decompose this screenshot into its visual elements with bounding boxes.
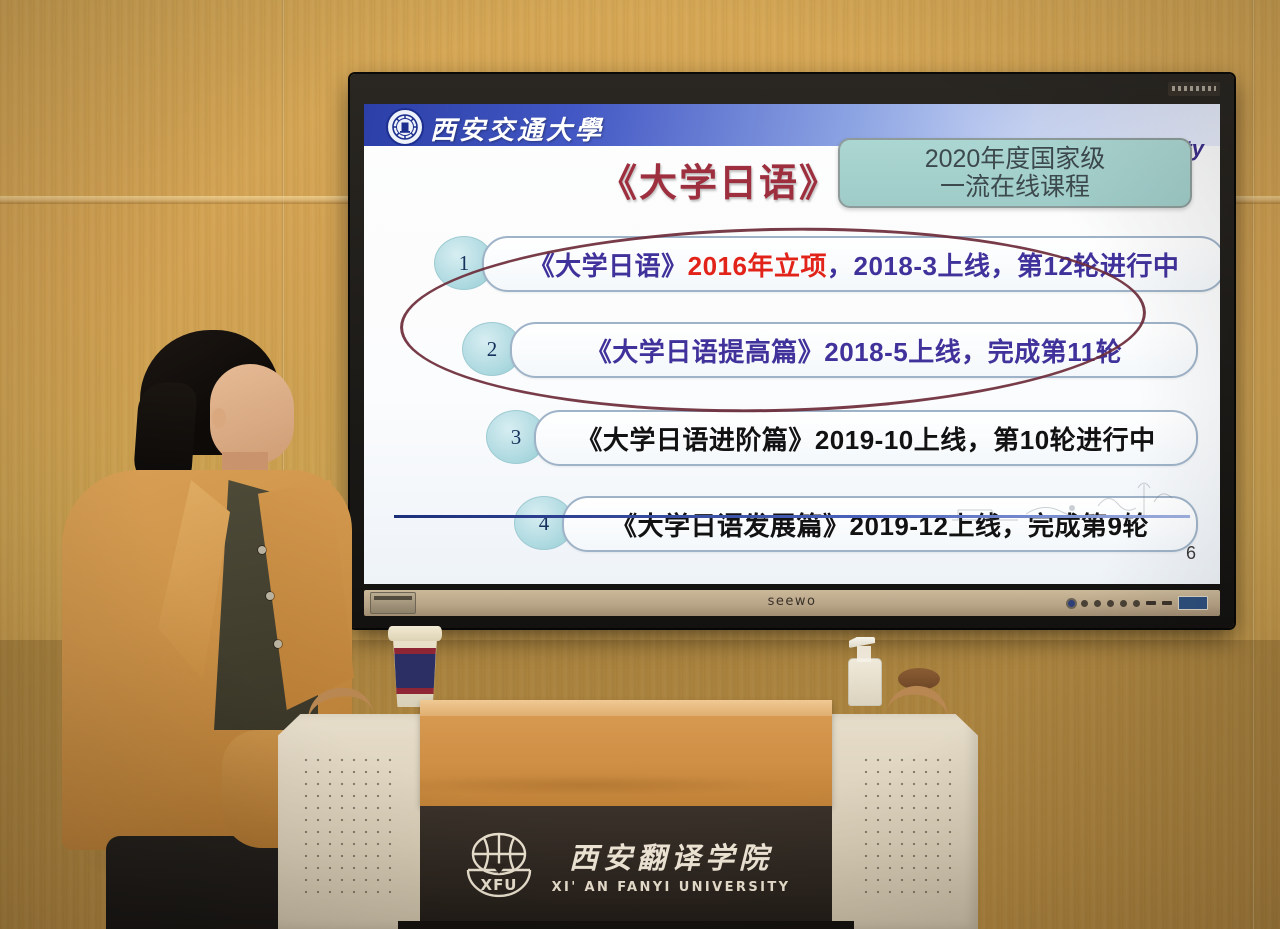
port-icon[interactable] [1094,600,1101,607]
university-name-block: 西安翻译学院 XI' AN FANYI UNIVERSITY [552,835,791,895]
presenter-lower-body [106,836,296,929]
lecture-room-scene: 西安交通大學 Xi'an Jiaotong University 《大学日语》系… [0,0,1280,929]
coffee-cup[interactable] [391,626,439,708]
lectern-wood-top [420,700,832,806]
presenter-button [274,640,282,648]
lectern: XFU 西安翻译学院 XI' AN FANYI UNIVERSITY [278,700,978,929]
presentation-slide: 西安交通大學 Xi'an Jiaotong University 《大学日语》系… [364,104,1220,584]
award-badge-line1: 2020年度国家级 [925,145,1106,173]
lectern-side-panel [278,714,438,929]
bezel-sticker [1178,596,1208,610]
usb-slot-icon[interactable] [1162,601,1172,605]
port-icon[interactable] [1107,600,1114,607]
presenter-button [258,546,266,554]
course-row: 2 《大学日语提高篇》2018-5上线，完成第11轮 [364,308,1220,392]
presenter-button [266,592,274,600]
sanitizer-body [848,658,882,706]
power-button-icon[interactable] [1068,600,1075,607]
xjtu-crest-icon [386,108,424,146]
award-badge: 2020年度国家级 一流在线课程 [838,138,1192,208]
course-pill: 《大学日语》2016年立项，2018-3上线，第12轮进行中 [482,236,1220,292]
xfu-globe-icon: XFU [462,828,536,902]
lectern-base [398,921,854,929]
course-text-segment: 《大学日语》 [529,246,688,283]
display-screen[interactable]: 西安交通大學 Xi'an Jiaotong University 《大学日语》系… [364,104,1220,584]
podium-university-name-cn: 西安翻译学院 [569,835,773,877]
lectern-side-panel [818,714,978,929]
course-pill: 《大学日语提高篇》2018-5上线，完成第11轮 [510,322,1198,378]
port-icon[interactable] [1120,600,1127,607]
course-row: 1 《大学日语》2016年立项，2018-3上线，第12轮进行中 [364,224,1220,308]
svg-text:XFU: XFU [480,876,517,894]
cup-lid [388,626,442,641]
course-text-segment: 《大学日语提高篇》2018-5上线，完成第11轮 [586,332,1122,369]
award-badge-line2: 一流在线课程 [940,173,1090,201]
podium-university-name-en: XI' AN FANYI UNIVERSITY [552,880,791,895]
course-text-segment: 2016年立项 [688,246,827,283]
display-top-label [1168,82,1220,96]
interactive-flat-panel-display[interactable]: 西安交通大學 Xi'an Jiaotong University 《大学日语》系… [350,74,1234,628]
sketch-watermark [948,462,1198,542]
university-logo-block: XFU 西安翻译学院 XI' AN FANYI UNIVERSITY [420,822,832,908]
cup-sleeve [394,648,436,694]
display-bottom-bezel: seewo [364,590,1220,616]
lectern-front-panel: XFU 西安翻译学院 XI' AN FANYI UNIVERSITY [420,806,832,929]
usb-slot-icon[interactable] [1146,601,1156,605]
presenter-ear [212,408,226,428]
slide-page-number: 6 [1186,543,1196,564]
course-pill: 《大学日语进阶篇》2019-10上线，第10轮进行中 [534,410,1198,466]
display-asset-sticker [370,592,416,614]
course-text-segment: 《大学日语进阶篇》2019-10上线，第10轮进行中 [576,420,1155,457]
course-text-segment: ，2018-3上线，第12轮进行中 [827,246,1179,283]
sanitizer-neck [857,646,871,662]
display-port-row[interactable] [1068,596,1208,610]
hand-sanitizer-bottle[interactable] [845,632,883,706]
slide-footer-rule [394,515,1190,518]
speaker-grille [860,754,956,894]
slide-university-name-cn: 西安交通大學 [430,110,604,147]
port-icon[interactable] [1081,600,1088,607]
port-icon[interactable] [1133,600,1140,607]
speaker-grille [300,754,396,894]
